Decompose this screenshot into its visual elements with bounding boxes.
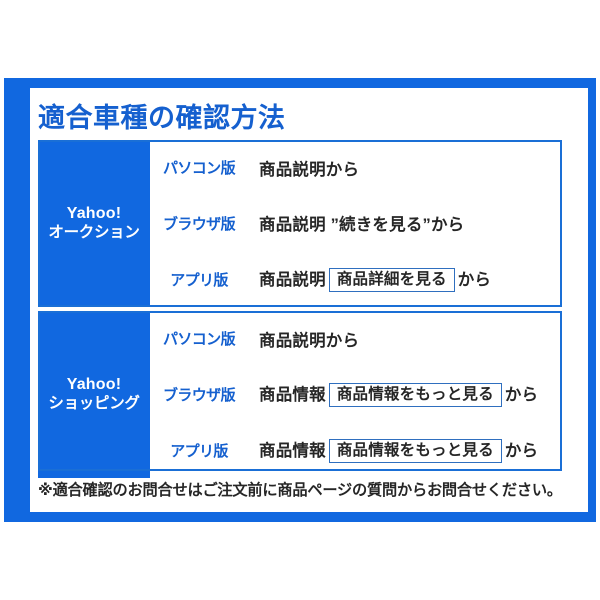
version-label-pc: パソコン版 [150, 311, 248, 366]
fit-table-auction: Yahoo! オークション パソコン版 商品説明から ブラウザ版 商品説明 ”続… [38, 140, 562, 307]
brand-name-top: Yahoo! [38, 204, 150, 224]
instruction-cell: 商品説明商品詳細を見るから [248, 251, 562, 307]
instruction-text: 商品説明 ”続きを見る”から [259, 216, 464, 234]
version-label-browser: ブラウザ版 [150, 195, 248, 251]
instruction-cell: 商品説明から [248, 311, 562, 366]
brand-cell-auction: Yahoo! オークション [38, 140, 150, 307]
instruction-cell: 商品説明 ”続きを見る”から [248, 195, 562, 251]
brand-cell-shopping: Yahoo! ショッピング [38, 311, 150, 478]
ui-button-reference[interactable]: 商品情報をもっと見る [329, 439, 502, 463]
instruction-text-before: 商品説明 [259, 271, 326, 289]
version-label-pc: パソコン版 [150, 140, 248, 195]
instruction-cell: 商品情報商品情報をもっと見るから [248, 422, 562, 478]
version-label-browser: ブラウザ版 [150, 366, 248, 422]
version-label-app: アプリ版 [150, 251, 248, 307]
footer-note: ※適合確認のお問合せはご注文前に商品ページの質問からお問合せください。 [38, 478, 568, 500]
instruction-text-before: 商品情報 [259, 386, 326, 404]
instruction-text: 商品説明から [259, 161, 359, 179]
page-title: 適合車種の確認方法 [38, 96, 286, 135]
ui-button-reference[interactable]: 商品詳細を見る [329, 268, 455, 292]
instruction-text-after: から [505, 386, 538, 404]
instruction-cell: 商品情報商品情報をもっと見るから [248, 366, 562, 422]
table-row: Yahoo! オークション パソコン版 商品説明から [38, 140, 562, 195]
instruction-text: 商品説明から [259, 332, 359, 350]
brand-name-bottom: オークション [38, 224, 150, 243]
instruction-text-before: 商品情報 [259, 442, 326, 460]
instruction-text-after: から [505, 442, 538, 460]
fit-table-shopping: Yahoo! ショッピング パソコン版 商品説明から ブラウザ版 商品情報商品情… [38, 311, 562, 478]
ui-button-reference[interactable]: 商品情報をもっと見る [329, 383, 502, 407]
table-row: Yahoo! ショッピング パソコン版 商品説明から [38, 311, 562, 366]
instruction-text-after: から [458, 271, 491, 289]
brand-name-top: Yahoo! [38, 375, 150, 395]
version-label-app: アプリ版 [150, 422, 248, 478]
instruction-cell: 商品説明から [248, 140, 562, 195]
brand-name-bottom: ショッピング [38, 395, 150, 414]
